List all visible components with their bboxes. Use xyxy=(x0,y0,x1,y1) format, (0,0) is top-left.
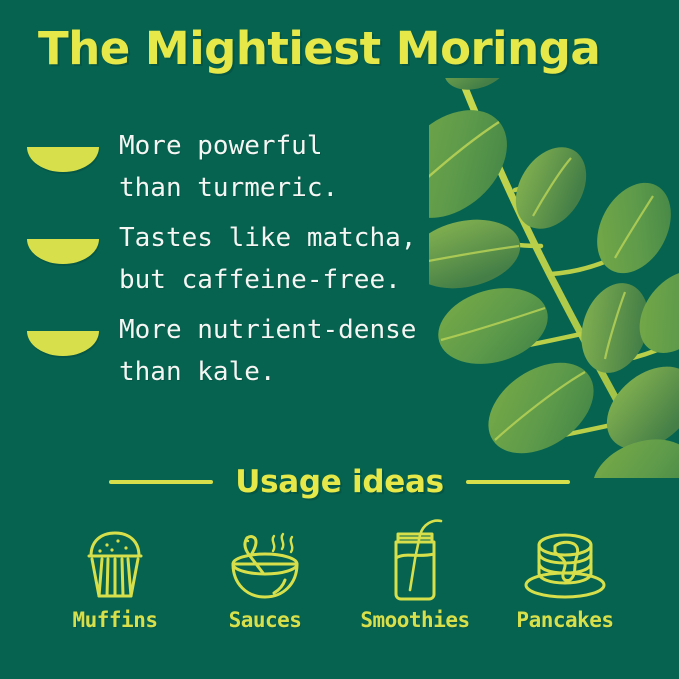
usage-item-label: Sauces xyxy=(229,608,302,632)
moringa-product-infographic: The Mightiest Moringa More powerful than… xyxy=(0,0,679,679)
usage-ideas-list: Muffins Sauces xyxy=(40,520,640,632)
bowl-spoon-icon xyxy=(225,520,305,602)
muffin-icon xyxy=(78,520,152,602)
benefit-text: More nutrient-dense than kale. xyxy=(119,309,497,393)
benefits-list: More powerful than turmeric. Tastes like… xyxy=(27,125,497,401)
usage-item-sauces: Sauces xyxy=(190,520,340,632)
usage-ideas-heading: Usage ideas xyxy=(0,464,679,500)
usage-item-smoothies: Smoothies xyxy=(340,520,490,632)
list-item: More nutrient-dense than kale. xyxy=(27,309,497,401)
list-item: Tastes like matcha, but caffeine-free. xyxy=(27,217,497,309)
half-disc-bullet-icon xyxy=(27,331,99,356)
mason-jar-straw-icon xyxy=(379,520,451,602)
usage-item-label: Smoothies xyxy=(360,608,469,632)
page-title: The Mightiest Moringa xyxy=(38,22,600,75)
benefit-text: More powerful than turmeric. xyxy=(119,125,497,209)
list-item: More powerful than turmeric. xyxy=(27,125,497,217)
usage-item-muffins: Muffins xyxy=(40,520,190,632)
heading-rule-left xyxy=(109,480,213,484)
usage-item-label: Pancakes xyxy=(516,608,613,632)
half-disc-bullet-icon xyxy=(27,147,99,172)
pancake-stack-icon xyxy=(522,520,608,602)
usage-item-label: Muffins xyxy=(72,608,157,632)
half-disc-bullet-icon xyxy=(27,239,99,264)
usage-ideas-heading-text: Usage ideas xyxy=(235,464,443,500)
benefit-text: Tastes like matcha, but caffeine-free. xyxy=(119,217,497,301)
heading-rule-right xyxy=(466,480,570,484)
usage-item-pancakes: Pancakes xyxy=(490,520,640,632)
